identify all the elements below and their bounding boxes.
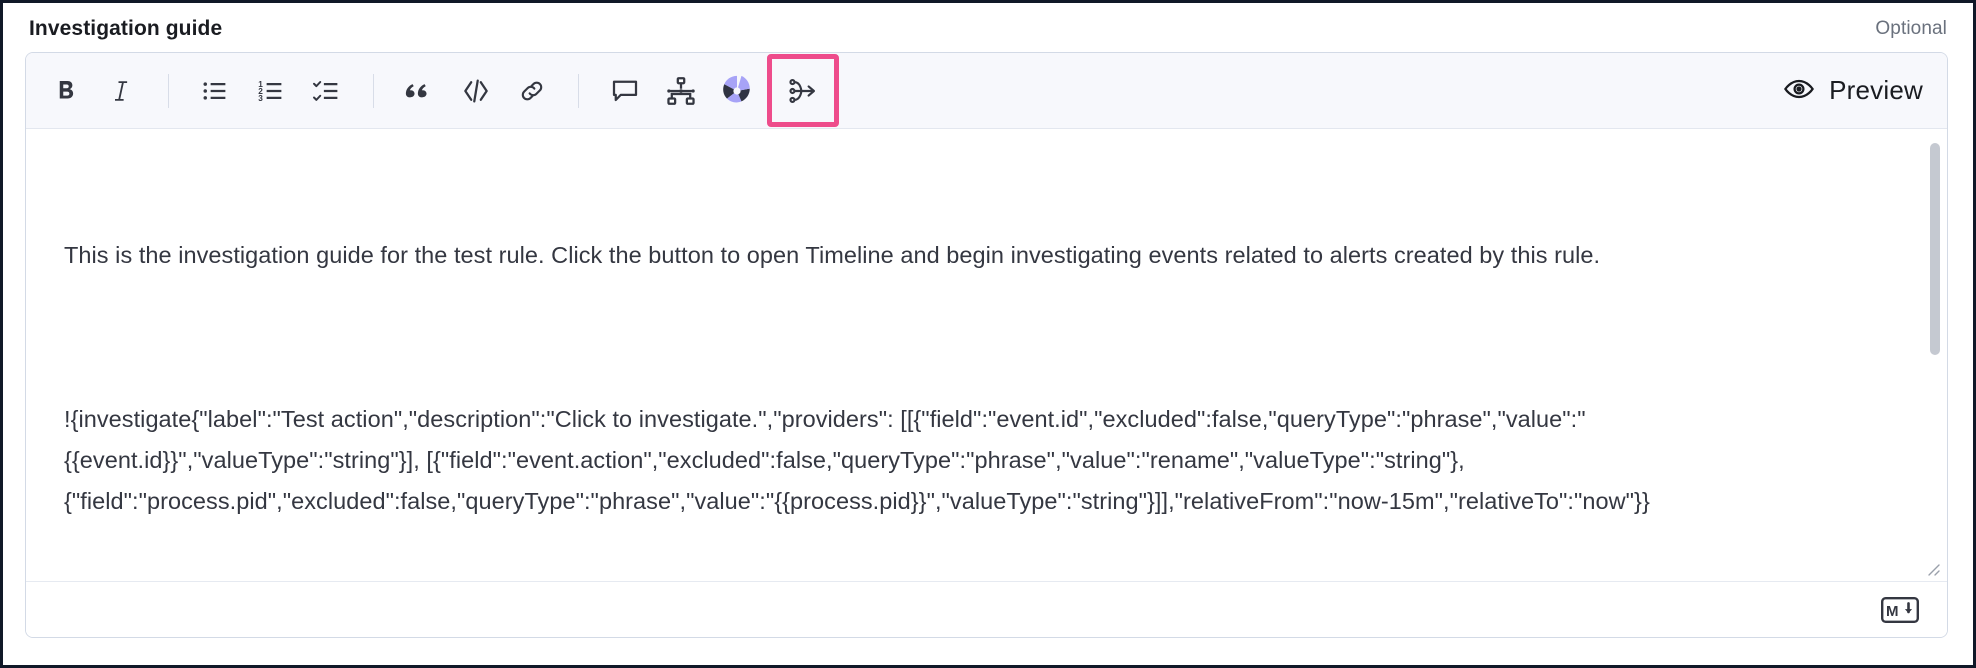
link-button[interactable] bbox=[504, 63, 560, 119]
code-button[interactable] bbox=[448, 63, 504, 119]
quote-button[interactable] bbox=[392, 63, 448, 119]
toolbar-divider bbox=[168, 74, 169, 108]
guide-paragraph-1: This is the investigation guide for the … bbox=[64, 235, 1907, 276]
ordered-list-icon: 1 2 3 bbox=[256, 76, 286, 106]
quote-icon bbox=[404, 75, 436, 107]
preview-button[interactable]: Preview bbox=[1783, 73, 1923, 108]
osquery-button[interactable] bbox=[653, 63, 709, 119]
elastic-logo-button[interactable] bbox=[709, 63, 765, 119]
page-title: Investigation guide bbox=[29, 17, 222, 41]
italic-icon bbox=[107, 76, 137, 106]
preview-label: Preview bbox=[1829, 75, 1923, 106]
insert-timeline-investigation-highlight bbox=[767, 54, 839, 127]
task-list-button[interactable] bbox=[299, 63, 355, 119]
toolbar-divider bbox=[578, 74, 579, 108]
comment-button[interactable] bbox=[597, 63, 653, 119]
eye-icon bbox=[1783, 73, 1815, 108]
insert-timeline-investigation-button[interactable] bbox=[775, 63, 831, 119]
investigation-guide-panel: Investigation guide Optional bbox=[0, 0, 1976, 668]
markdown-textarea[interactable]: This is the investigation guide for the … bbox=[26, 129, 1947, 581]
optional-badge: Optional bbox=[1875, 18, 1947, 40]
markdown-badge[interactable]: M bbox=[1881, 597, 1919, 623]
guide-paragraph-2: !{investigate{"label":"Test action","des… bbox=[64, 399, 1907, 522]
markdown-toolbar: 1 2 3 bbox=[26, 53, 1947, 129]
markdown-content[interactable]: This is the investigation guide for the … bbox=[26, 129, 1947, 581]
textarea-scrollbar[interactable] bbox=[1930, 139, 1940, 571]
code-icon bbox=[460, 75, 492, 107]
field-header: Investigation guide Optional bbox=[3, 3, 1973, 55]
toolbar-divider bbox=[373, 74, 374, 108]
italic-button[interactable] bbox=[94, 63, 150, 119]
unordered-list-icon bbox=[200, 76, 230, 106]
bold-icon bbox=[51, 76, 81, 106]
svg-text:M: M bbox=[1886, 603, 1899, 620]
markdown-editor: 1 2 3 bbox=[25, 52, 1948, 638]
scrollbar-thumb[interactable] bbox=[1930, 143, 1940, 355]
link-icon bbox=[517, 76, 547, 106]
unordered-list-button[interactable] bbox=[187, 63, 243, 119]
bold-button[interactable] bbox=[38, 63, 94, 119]
timeline-investigate-icon bbox=[787, 75, 819, 107]
svg-text:3: 3 bbox=[258, 93, 263, 102]
task-list-icon bbox=[312, 76, 342, 106]
ordered-list-button[interactable]: 1 2 3 bbox=[243, 63, 299, 119]
osquery-icon bbox=[665, 75, 697, 107]
comment-icon bbox=[610, 76, 640, 106]
elastic-logo-icon bbox=[720, 74, 754, 108]
markdown-footer: M bbox=[26, 581, 1947, 637]
resize-handle[interactable] bbox=[1921, 557, 1941, 577]
